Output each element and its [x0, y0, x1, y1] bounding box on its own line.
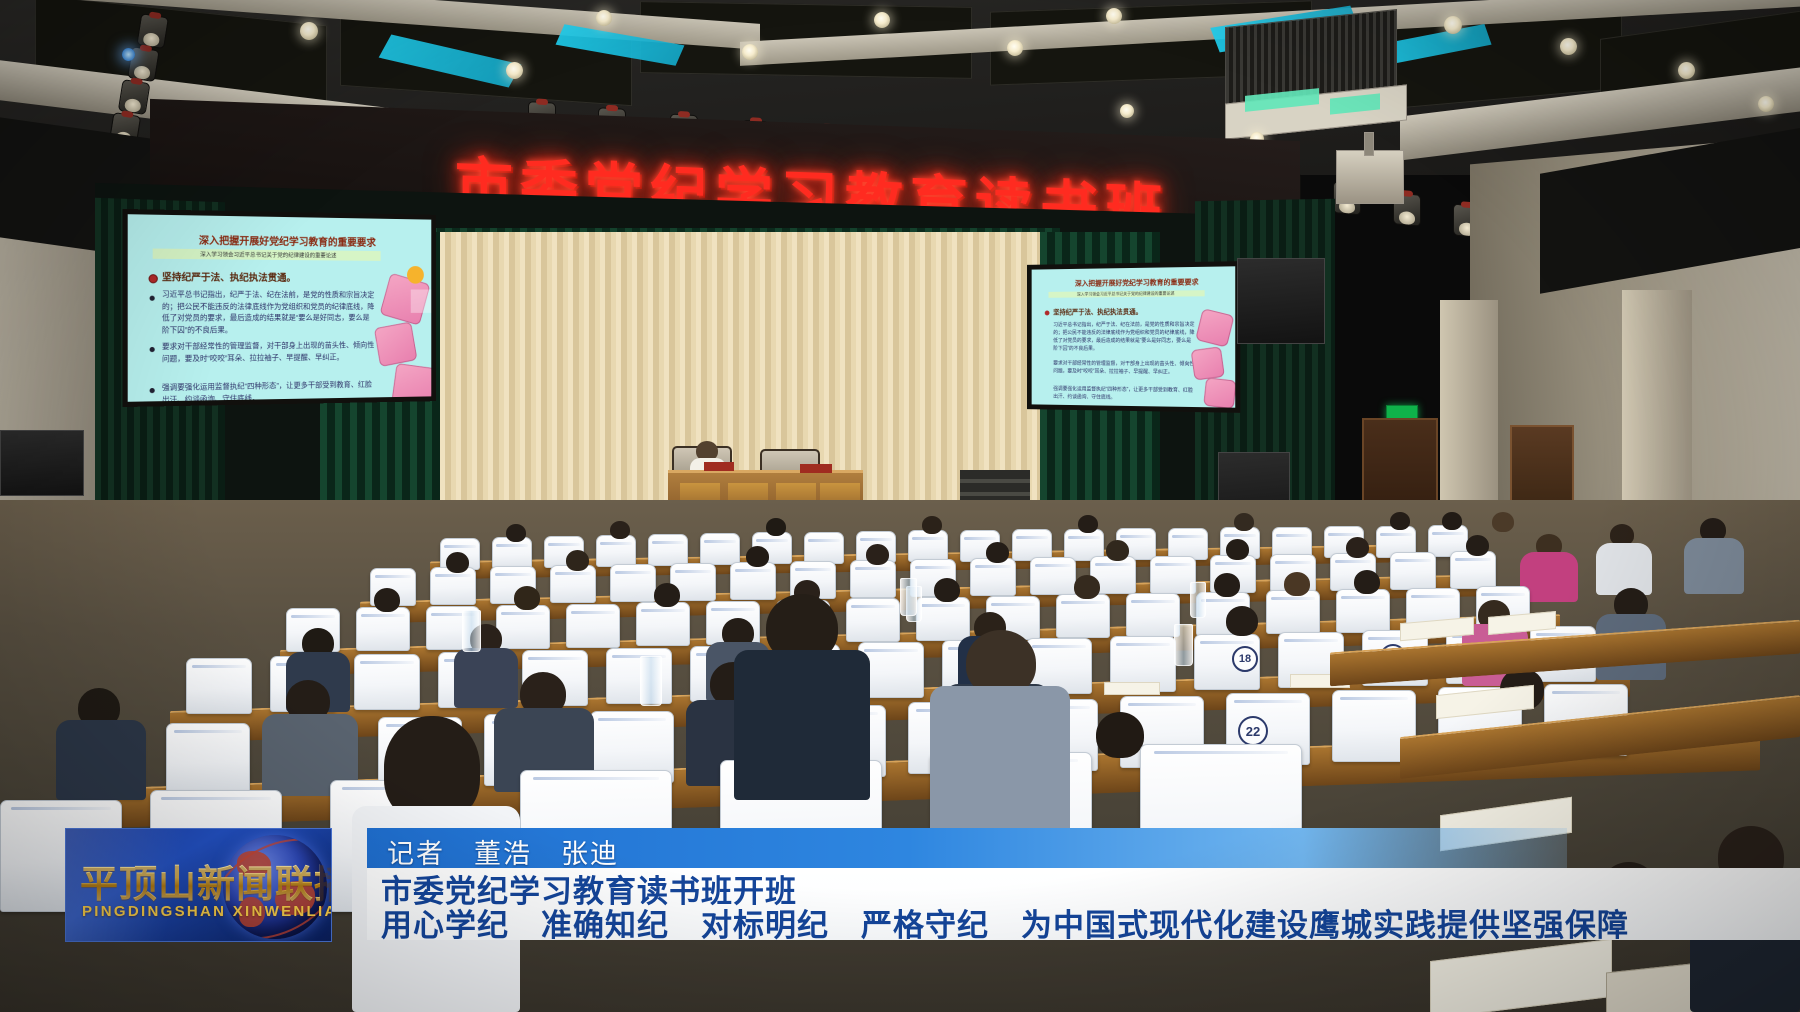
slide-bullet-3: 要求对干部经常性的管理监督，对干部身上出现的苗头性、倾向性问题，要及时“咬咬”耳…: [162, 339, 375, 377]
audience-seat: [1390, 552, 1436, 590]
attendee-body: [454, 648, 518, 708]
rostrum-nameplate: [704, 462, 734, 471]
attendee-head: [1466, 535, 1489, 556]
water-cup: [640, 656, 662, 706]
attendee-head: [1346, 537, 1369, 558]
slide-bullet-4: 强调要强化运用监督执纪“四种形态”，让更多干部受到教育、红脸出汗、约谈函询、守住…: [162, 379, 375, 407]
attendee-body: [56, 720, 146, 800]
hall-loudspeaker: [0, 430, 84, 496]
audience-seat: [1030, 557, 1076, 595]
ceiling-projector-arm: [1364, 132, 1374, 156]
slide-bullet-marker: [150, 388, 155, 393]
slide-illustration: [1203, 377, 1236, 409]
attendee-head: [506, 524, 526, 542]
slide-bullet-2: 习近平总书记指出，纪严于法、纪在法前，是党的性质和宗旨决定的；把公民不能违反的法…: [162, 289, 375, 338]
headline-panel: 市委党纪学习教育读书班开班 用心学纪 准确知纪 对标明纪 严格守纪 为中国式现代…: [367, 868, 1800, 940]
attendee-head: [1492, 512, 1514, 532]
attendee-head: [866, 544, 889, 565]
audience-seat: [1450, 551, 1496, 589]
ceiling-downlight: [300, 22, 318, 40]
slide-bullet-marker: [1045, 311, 1050, 316]
projection-screen-right: 深入把握开展好党纪学习教育的重要要求 深入学习领会习近平总书记关于党的纪律建设的…: [1027, 261, 1240, 413]
channel-name-pinyin: PINGDINGSHAN XINWENLIANBO: [82, 903, 328, 920]
desk-document: [1104, 682, 1160, 695]
water-cup: [1190, 582, 1206, 618]
attendee-head: [746, 546, 769, 567]
slide-illustration-badge: [407, 266, 424, 284]
ceiling-downlight: [1120, 104, 1134, 118]
slide-illustration: [391, 363, 435, 407]
attendee-head: [610, 521, 630, 539]
attendee-head: [766, 518, 786, 536]
audience-seat: [1266, 590, 1320, 634]
audience-seat: [566, 604, 620, 648]
slide-bullet-marker: [150, 296, 155, 301]
audience-seat: [354, 654, 420, 710]
slide-bullet-3: 要求对干部经常性的管理监督，对干部身上出现的苗头性、倾向性问题，要及时“咬咬”耳…: [1053, 360, 1194, 383]
ceiling-downlight: [1106, 8, 1122, 24]
slide-bullet-1: 坚持纪严于法、执纪执法贯通。: [162, 269, 380, 284]
attendee-head: [1354, 570, 1380, 594]
slide-bullet-2: 习近平总书记指出，纪严于法、纪在法前，是党的性质和宗旨决定的；把公民不能违反的法…: [1053, 321, 1194, 356]
audience-seat: [970, 558, 1016, 596]
attendee-head: [1074, 575, 1100, 599]
ceiling-downlight: [122, 48, 135, 61]
channel-name-cn: 平顶山新闻联播: [80, 853, 320, 908]
attendee-head: [1390, 512, 1410, 530]
slide-bullet-4: 强调要强化运用监督执纪“四种形态”，让更多干部受到教育、红脸出汗、约谈函询、守住…: [1053, 385, 1194, 407]
attendee-head: [1284, 572, 1310, 596]
ceiling-downlight: [1758, 96, 1774, 112]
slide-title: 深入把握开展好党纪学习教育的重要要求: [1037, 276, 1239, 289]
attendee-head: [566, 550, 589, 571]
slide-illustration: [374, 321, 418, 367]
slide-subtitle: 深入学习领会习近平总书记关于党的纪律建设的重要论述: [153, 249, 381, 261]
attendee-head: [934, 578, 960, 602]
ceiling-downlight: [1444, 16, 1462, 34]
attendee-head: [1234, 513, 1254, 531]
slide-bullet-marker: [150, 347, 155, 352]
attendee-body: [1684, 538, 1744, 594]
audience-seat: [916, 597, 970, 641]
ceiling-downlight: [506, 62, 523, 79]
slide-side-note: [411, 289, 436, 312]
projection-screen-left: 深入把握开展好党纪学习教育的重要要求 深入学习领会习近平总书记关于党的纪律建设的…: [122, 209, 435, 407]
audience-seat: [908, 530, 948, 562]
audience-seat: [186, 658, 252, 714]
audience-seat: [1336, 589, 1390, 633]
audience-seat: [596, 535, 636, 567]
ceiling-downlight: [1007, 40, 1023, 56]
rostrum-nameplate: [800, 464, 832, 473]
hall-loudspeaker: [1237, 258, 1325, 344]
attendee-head: [1214, 573, 1240, 597]
attendee-head: [374, 588, 400, 612]
water-cup: [900, 578, 917, 616]
attendee-body: [930, 686, 1070, 846]
attendee-head: [1442, 512, 1462, 530]
seat-number-badge: 22: [1238, 716, 1268, 746]
audience-seat: [356, 607, 410, 651]
audience-seat: [700, 533, 740, 565]
attendee-head: [922, 516, 942, 534]
audience-seat: [636, 602, 690, 646]
slide-subtitle: 深入学习领会习近平总书记关于党的纪律建设的重要论述: [1049, 290, 1205, 298]
slide-bullet-marker: [149, 274, 158, 283]
attendee-body: [1596, 543, 1652, 595]
audience-seat: [730, 562, 776, 600]
audience-seat: [846, 598, 900, 642]
audience-seat: [1056, 594, 1110, 638]
audience-seat: [804, 532, 844, 564]
attendee-head: [1226, 606, 1258, 636]
audience-seat: [496, 605, 550, 649]
ceiling-downlight: [874, 12, 890, 28]
slide-bullet-1: 坚持纪严于法、执纪执法贯通。: [1053, 305, 1199, 316]
headline-secondary: 用心学纪 准确知纪 对标明纪 严格守纪 为中国式现代化建设鹰城实践提供坚强保障: [381, 900, 1629, 945]
broadcast-frame: 市委党纪学习教育读书班 深入把握开展好党纪学习教育的重要要求 深入学习领会习近平…: [0, 0, 1800, 1012]
audience-seat: [606, 648, 672, 704]
water-cup: [462, 610, 481, 652]
attendee-head: [1106, 540, 1129, 561]
slide-title: 深入把握开展好党纪学习教育的重要要求: [138, 231, 431, 250]
ceiling-downlight: [742, 44, 758, 60]
attendee-head: [986, 542, 1009, 563]
ceiling-projector: [1336, 150, 1404, 204]
ceiling-downlight: [1560, 38, 1577, 55]
attendee-head: [1078, 515, 1098, 533]
attendee-head: [654, 583, 680, 607]
stage-light-icon: [118, 79, 151, 115]
channel-logo: 平顶山新闻联播 PINGDINGSHAN XINWENLIANBO: [65, 828, 332, 942]
audience-seat: [648, 534, 688, 566]
attendee-head: [446, 552, 469, 573]
attendee-head: [514, 586, 540, 610]
reporter-bar: 记者 董浩 张迪: [367, 828, 1567, 868]
seat-number-badge: 18: [1232, 646, 1258, 672]
stage-light-icon: [136, 13, 169, 49]
attendee-body: [734, 650, 870, 800]
ceiling-downlight: [1678, 62, 1695, 79]
ceiling-downlight: [596, 10, 612, 26]
water-cup: [1174, 624, 1193, 666]
audience-seat: [166, 723, 250, 795]
audience-seat: [1126, 593, 1180, 637]
audience-seat: [850, 560, 896, 598]
attendee-head: [1096, 712, 1144, 758]
attendee-head: [1226, 539, 1249, 560]
audience-seat: [610, 564, 656, 602]
slide-illustration: [1191, 346, 1225, 380]
slide-illustration: [1195, 308, 1234, 348]
